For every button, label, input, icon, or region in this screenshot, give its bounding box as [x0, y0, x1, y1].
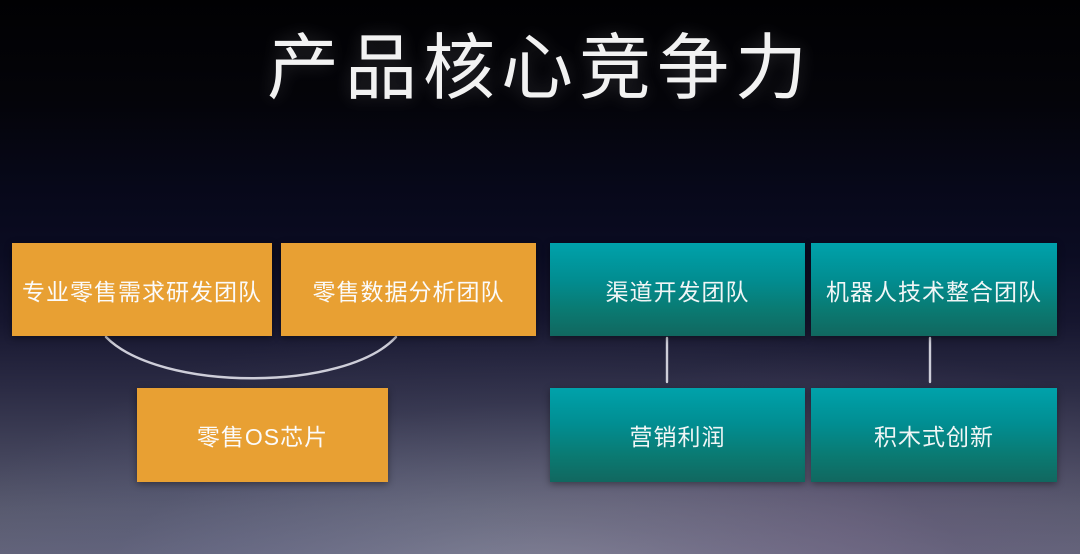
box-label: 机器人技术整合团队 — [826, 273, 1042, 307]
box-channel-dev-team[interactable]: 渠道开发团队 — [550, 243, 805, 336]
page-title: 产品核心竞争力 — [0, 28, 1080, 112]
box-retail-data-analysis-team[interactable]: 零售数据分析团队 — [281, 243, 536, 336]
box-retail-os-chip[interactable]: 零售OS芯片 — [137, 388, 388, 482]
box-label: 积木式创新 — [874, 418, 994, 452]
box-retail-rd-team[interactable]: 专业零售需求研发团队 — [12, 243, 272, 336]
box-marketing-profit[interactable]: 营销利润 — [550, 388, 805, 482]
box-label: 渠道开发团队 — [606, 273, 750, 307]
box-robotics-integration-team[interactable]: 机器人技术整合团队 — [811, 243, 1057, 336]
box-label: 零售数据分析团队 — [313, 273, 505, 307]
box-label: 专业零售需求研发团队 — [22, 273, 262, 307]
box-modular-innovation[interactable]: 积木式创新 — [811, 388, 1057, 482]
box-label: 零售OS芯片 — [197, 418, 328, 452]
box-label: 营销利润 — [630, 418, 726, 452]
slide-canvas: 产品核心竞争力 专业零售需求研发团队 零售数据分析团队 零售OS芯片 渠道开发团… — [0, 0, 1080, 554]
arc-retail-to-chip — [106, 337, 396, 378]
